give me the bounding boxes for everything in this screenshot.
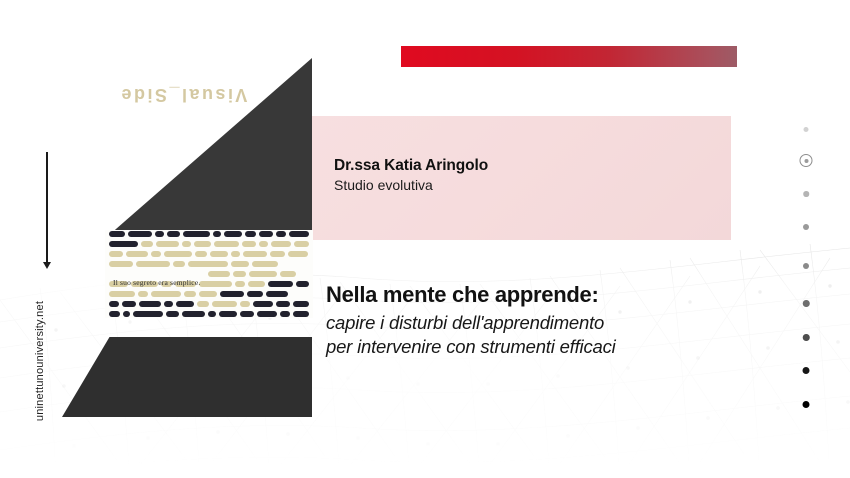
redacted-block <box>235 281 245 287</box>
redacted-block <box>199 291 217 297</box>
redacted-block <box>138 291 148 297</box>
gold-mirrored-watermark: Visual_Side <box>119 84 247 105</box>
redacted-line <box>105 240 313 247</box>
redacted-block <box>214 241 239 247</box>
redacted-line <box>105 290 313 297</box>
redacted-block <box>280 311 291 317</box>
presentation-slide: Visual_Side Dr.ssa Katia Aringolo Studio… <box>0 0 850 478</box>
redacted-block <box>243 251 267 257</box>
redacted-block <box>293 301 309 307</box>
redacted-block <box>213 231 221 237</box>
redacted-block <box>128 231 152 237</box>
redacted-block <box>109 301 119 307</box>
redacted-block <box>182 241 191 247</box>
rail-dot-1[interactable] <box>804 127 809 132</box>
redacted-block <box>210 251 228 257</box>
site-url-vertical: uninettunouniversity.net <box>34 281 46 441</box>
rail-dot-5[interactable] <box>803 263 809 269</box>
redacted-block <box>155 231 164 237</box>
redacted-block <box>136 261 170 267</box>
slide-subtitle-line-1: capire i disturbi dell'apprendimento <box>326 311 746 335</box>
redacted-block <box>280 271 296 277</box>
redacted-block <box>219 311 237 317</box>
redacted-block <box>276 231 286 237</box>
redacted-block <box>249 271 277 277</box>
redacted-block <box>109 271 205 277</box>
redacted-block <box>184 291 196 297</box>
redacted-line <box>105 270 313 277</box>
rail-dot-3[interactable] <box>803 191 809 197</box>
redacted-block <box>270 251 285 257</box>
current-slide-ring-icon[interactable] <box>800 154 813 167</box>
redacted-block <box>293 311 309 317</box>
slide-title-block: Nella mente che apprende:capire i distur… <box>326 282 746 360</box>
redacted-block <box>271 241 290 247</box>
redacted-line <box>105 250 313 257</box>
redacted-block <box>259 241 269 247</box>
redacted-block <box>252 261 278 267</box>
red-accent-bar <box>401 46 737 67</box>
redacted-line <box>105 260 313 267</box>
redacted-block <box>195 251 207 257</box>
redacted-block <box>139 301 161 307</box>
book-caption-text: Il suo segreto era semplice. <box>113 278 200 287</box>
redacted-block <box>109 241 138 247</box>
redacted-line <box>105 300 313 307</box>
redacted-block <box>212 301 238 307</box>
slide-subtitle-line-2: per intervenire con strumenti efficaci <box>326 335 746 359</box>
redacted-block <box>188 261 228 267</box>
book-cover-artwork: Il suo segreto era semplice. <box>105 230 313 318</box>
redacted-block <box>240 311 254 317</box>
redacted-block <box>224 231 242 237</box>
redacted-block <box>194 241 211 247</box>
redacted-block <box>197 301 209 307</box>
redacted-block <box>220 291 244 297</box>
redacted-line <box>105 310 313 317</box>
speaker-info-block: Dr.ssa Katia Aringolo Studio evolutiva <box>334 156 488 195</box>
redacted-block <box>253 301 273 307</box>
rail-dot-9[interactable] <box>803 401 810 408</box>
redacted-block <box>208 311 217 317</box>
redacted-block <box>164 251 192 257</box>
speaker-role: Studio evolutiva <box>334 176 488 195</box>
progress-dot-rail[interactable] <box>790 118 822 394</box>
redacted-block <box>240 301 250 307</box>
redacted-line <box>105 230 313 237</box>
redacted-block <box>123 311 131 317</box>
redacted-block <box>109 311 120 317</box>
redacted-block <box>156 241 179 247</box>
redacted-block <box>245 231 256 237</box>
redacted-block <box>173 261 185 267</box>
redacted-block <box>151 291 181 297</box>
redacted-block <box>208 271 230 277</box>
redacted-block <box>122 301 136 307</box>
slide-title-main: Nella mente che apprende: <box>326 282 746 308</box>
redacted-block <box>259 231 273 237</box>
redacted-block <box>247 291 263 297</box>
redacted-block <box>141 241 153 247</box>
redacted-block <box>257 311 276 317</box>
redacted-block <box>183 231 210 237</box>
redacted-block <box>288 251 308 257</box>
redacted-block <box>233 271 246 277</box>
redacted-block <box>109 231 125 237</box>
redacted-block <box>166 311 178 317</box>
rail-dot-8[interactable] <box>803 367 810 374</box>
redacted-block <box>289 231 309 237</box>
redacted-block <box>242 241 256 247</box>
redacted-block <box>126 251 148 257</box>
redacted-block <box>109 251 123 257</box>
rail-dot-7[interactable] <box>803 334 810 341</box>
redacted-block <box>182 311 205 317</box>
redacted-block <box>167 231 180 237</box>
redacted-block <box>151 251 161 257</box>
redacted-block <box>276 301 290 307</box>
speaker-panel: Dr.ssa Katia Aringolo Studio evolutiva <box>312 116 731 240</box>
redacted-block <box>199 281 232 287</box>
redacted-block <box>266 291 288 297</box>
redacted-block <box>231 261 249 267</box>
rail-dot-6[interactable] <box>803 300 810 307</box>
redacted-block <box>109 291 135 297</box>
redacted-block <box>164 301 173 307</box>
redacted-block <box>109 261 133 267</box>
redacted-block <box>176 301 194 307</box>
redacted-block <box>231 251 240 257</box>
redacted-block <box>296 281 309 287</box>
dark-trapezoid-lower <box>62 337 312 417</box>
speaker-name: Dr.ssa Katia Aringolo <box>334 156 488 175</box>
redacted-block <box>248 281 265 287</box>
vertical-arrow-line <box>46 152 48 264</box>
redacted-text-rows <box>105 230 313 317</box>
redacted-block <box>268 281 293 287</box>
vertical-arrow-head-icon <box>43 262 51 269</box>
redacted-block <box>133 311 163 317</box>
rail-dot-4[interactable] <box>803 224 809 230</box>
redacted-block <box>294 241 309 247</box>
